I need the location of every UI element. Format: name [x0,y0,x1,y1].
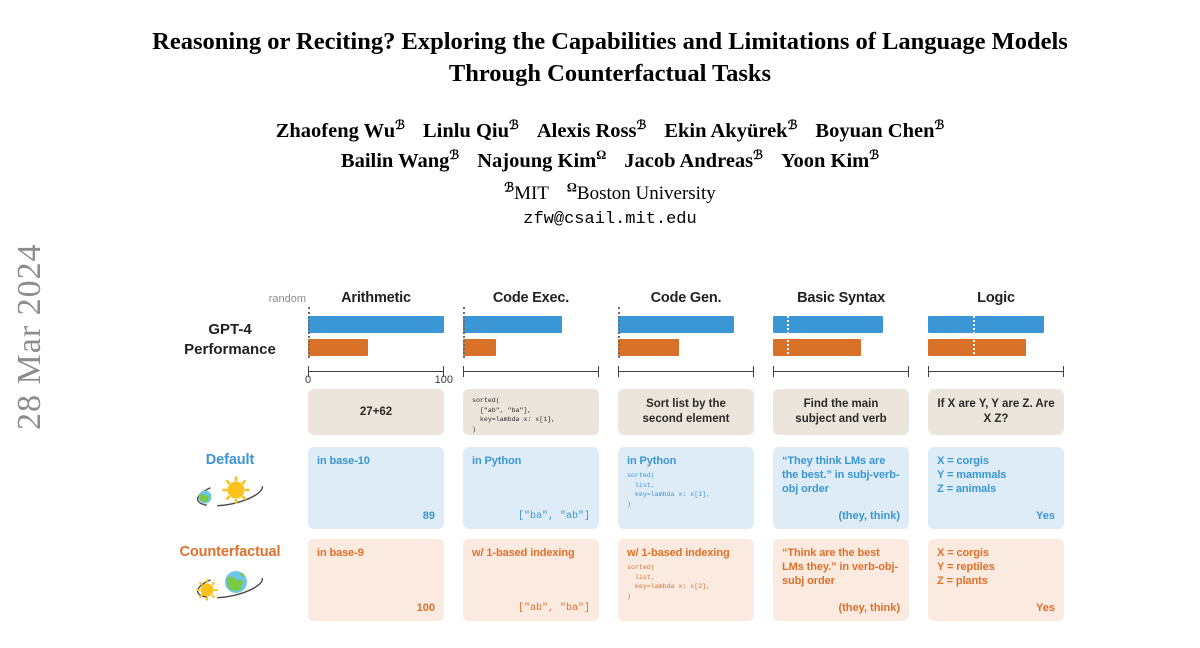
task-box: If X are Y, Y are Z. Are X Z? [928,389,1064,435]
random-baseline-line [787,307,789,358]
affiliation-list: ℬMITΩBoston University [110,180,1110,205]
axis-cap-right [598,366,599,377]
affiliation-marker: Ω [567,181,577,195]
axis-cap-right [908,366,909,377]
bar-default [618,316,734,333]
axis-line [928,371,1064,372]
counterfactual-box-cell-4: X = corgis Y = reptiles Z = plantsYes [928,539,1064,621]
task-box: Find the main subject and verb [773,389,909,435]
axis-line [618,371,754,372]
bar-group-0: random0100 [308,316,444,382]
default-box-prompt: in Python [472,454,590,468]
figure-default-row: in base-1089in Python["ba", "ab"]in Pyth… [160,447,1080,529]
x-axis [463,366,599,382]
counterfactual-box: w/ 1-based indexingsorted( list, key=lam… [618,539,754,621]
counterfactual-box: “Think are the best LMs they.” in verb-o… [773,539,909,621]
bar-default [928,316,1044,333]
task-text: If X are Y, Y are Z. Are X Z? [937,396,1055,428]
axis-cap-right [753,366,754,377]
paper-page: 28 Mar 2024 Reasoning or Reciting? Explo… [0,0,1200,648]
task-text: Sort list by the second element [627,396,745,428]
bar-counterfactual [463,339,496,356]
author-name: Zhaofeng Wuℬ [276,120,405,142]
random-baseline-label: random [269,293,306,305]
bar-track [308,316,444,333]
counterfactual-box-cell-0: in base-9100 [308,539,444,621]
counterfactual-box-prompt: in base-9 [317,546,435,560]
axis-tick-min: 0 [305,374,311,386]
bar-group-4 [928,316,1064,382]
bar-default [773,316,883,333]
counterfactual-box-prompt: w/ 1-based indexing [627,546,745,560]
figure-counterfactual-row: in base-9100w/ 1-based indexing["ab", "b… [160,539,1080,621]
bar-group-1 [463,316,599,382]
affiliation-marker: ℬ [934,118,944,132]
x-axis: 0100 [308,366,444,382]
axis-tick-max: 100 [435,374,453,386]
task-box: Sort list by the second element [618,389,754,435]
bar-default [308,316,444,333]
default-box-answer: ["ba", "ab"] [518,511,590,522]
affiliation-marker: ℬ [753,148,763,162]
axis-line [308,371,444,372]
counterfactual-box: in base-9100 [308,539,444,621]
task-box: sorted( ["ab", "ba"], key=lambda x: x[1]… [463,389,599,435]
task-cell-4: If X are Y, Y are Z. Are X Z? [928,389,1064,435]
column-header-code-exec: Code Exec. [463,290,599,306]
counterfactual-box-answer: 100 [417,602,435,614]
default-box: X = corgis Y = mammals Z = animalsYes [928,447,1064,529]
counterfactual-box-prompt: w/ 1-based indexing [472,546,590,560]
task-cell-2: Sort list by the second element [618,389,754,435]
figure-bars-row: random0100 [160,316,1080,382]
bar-counterfactual [618,339,679,356]
x-axis [618,366,754,382]
bar-track [928,339,1064,356]
affiliation-marker: ℬ [449,148,459,162]
column-header-code-gen: Code Gen. [618,290,754,306]
axis-cap-left [773,366,774,377]
paper-header: Reasoning or Reciting? Exploring the Cap… [110,26,1110,229]
axis-line [773,371,909,372]
author-name: Boyuan Chenℬ [815,120,944,142]
task-text: 27+62 [317,396,435,428]
affiliation-marker: ℬ [788,118,798,132]
bar-chart-4 [928,316,1064,382]
task-cell-0: 27+62 [308,389,444,435]
counterfactual-box-cell-3: “Think are the best LMs they.” in verb-o… [773,539,909,621]
author-list: Zhaofeng WuℬLinlu QiuℬAlexis RossℬEkin A… [110,116,1110,177]
author-name: Ekin Akyürekℬ [664,120,797,142]
column-header-logic: Logic [928,290,1064,306]
bar-group-2 [618,316,754,382]
bar-default [463,316,562,333]
bar-track [618,339,754,356]
default-box-prompt: in base-10 [317,454,435,468]
affiliation-entry: ℬMIT [504,183,549,204]
default-box-code: sorted( list, key=lambda x: x[1], ) [627,471,745,509]
task-box: 27+62 [308,389,444,435]
random-baseline-line [973,307,975,358]
counterfactual-box-answer: Yes [1036,602,1055,614]
column-header-basic-syntax: Basic Syntax [773,290,909,306]
default-box-answer: 89 [423,510,435,522]
bar-group-3 [773,316,909,382]
author-name: Yoon Kimℬ [781,150,879,172]
bar-track [618,316,754,333]
counterfactual-box-answer: (they, think) [838,602,900,614]
bar-chart-2 [618,316,754,382]
axis-line [463,371,599,372]
teaser-figure: GPT-4 Performance Default [160,290,1080,635]
task-code: sorted( ["ab", "ba"], key=lambda x: x[1]… [472,396,590,434]
author-name: Bailin Wangℬ [341,150,459,172]
affiliation-marker: ℬ [395,118,405,132]
bar-track [928,316,1064,333]
bar-counterfactual [308,339,368,356]
default-box: “They think LMs are the best.” in subj-v… [773,447,909,529]
task-cell-3: Find the main subject and verb [773,389,909,435]
affiliation-entry: ΩBoston University [567,183,716,204]
affiliation-marker: ℬ [509,118,519,132]
figure-task-row: 27+62sorted( ["ab", "ba"], key=lambda x:… [160,389,1080,435]
random-baseline-line: random [308,307,310,358]
bar-track [463,339,599,356]
affiliation-marker: ℬ [637,118,647,132]
default-box-cell-1: in Python["ba", "ab"] [463,447,599,529]
affiliation-marker: ℬ [869,148,879,162]
default-box-cell-0: in base-1089 [308,447,444,529]
author-line-2: Bailin WangℬNajoung KimΩJacob AndreasℬYo… [110,146,1110,177]
default-box-prompt: X = corgis Y = mammals Z = animals [937,454,1055,496]
default-box-prompt: in Python [627,454,745,468]
axis-cap-left [928,366,929,377]
x-axis [928,366,1064,382]
bar-chart-1 [463,316,599,382]
bar-chart-3 [773,316,909,382]
default-box-prompt: “They think LMs are the best.” in subj-v… [782,454,900,496]
bar-counterfactual [928,339,1026,356]
counterfactual-box-cell-2: w/ 1-based indexingsorted( list, key=lam… [618,539,754,621]
default-box-answer: (they, think) [838,510,900,522]
default-box-cell-2: in Pythonsorted( list, key=lambda x: x[1… [618,447,754,529]
default-box-answer: Yes [1036,510,1055,522]
axis-cap-right [1063,366,1064,377]
counterfactual-box-code: sorted( list, key=lambda x: x[2], ) [627,563,745,601]
bar-track [773,316,909,333]
default-box: in Pythonsorted( list, key=lambda x: x[1… [618,447,754,529]
axis-cap-left [618,366,619,377]
counterfactual-box-cell-1: w/ 1-based indexing["ab", "ba"] [463,539,599,621]
random-baseline-line [463,307,465,358]
default-box: in base-1089 [308,447,444,529]
axis-cap-left [463,366,464,377]
author-name: Alexis Rossℬ [537,120,647,142]
counterfactual-box-prompt: “Think are the best LMs they.” in verb-o… [782,546,900,588]
counterfactual-box: X = corgis Y = reptiles Z = plantsYes [928,539,1064,621]
column-header-arithmetic: Arithmetic [308,290,444,306]
author-line-1: Zhaofeng WuℬLinlu QiuℬAlexis RossℬEkin A… [110,116,1110,147]
random-baseline-line [618,307,620,358]
counterfactual-box-prompt: X = corgis Y = reptiles Z = plants [937,546,1055,588]
affiliation-marker: ℬ [504,181,514,195]
affiliation-marker: Ω [596,148,606,162]
bar-track [463,316,599,333]
counterfactual-box-answer: ["ab", "ba"] [518,603,590,614]
author-name: Jacob Andreasℬ [624,150,763,172]
x-axis [773,366,909,382]
bar-chart-0: random0100 [308,316,444,382]
bar-track [308,339,444,356]
counterfactual-box: w/ 1-based indexing["ab", "ba"] [463,539,599,621]
task-cell-1: sorted( ["ab", "ba"], key=lambda x: x[1]… [463,389,599,435]
arxiv-date-stamp: 28 Mar 2024 [0,170,60,430]
author-name: Najoung KimΩ [477,150,606,172]
page-title: Reasoning or Reciting? Exploring the Cap… [110,26,1110,90]
contact-email: zfw@csail.mit.edu [110,210,1110,229]
default-box-cell-3: “They think LMs are the best.” in subj-v… [773,447,909,529]
default-box-cell-4: X = corgis Y = mammals Z = animalsYes [928,447,1064,529]
default-box: in Python["ba", "ab"] [463,447,599,529]
author-name: Linlu Qiuℬ [423,120,519,142]
task-text: Find the main subject and verb [782,396,900,428]
bar-track [773,339,909,356]
